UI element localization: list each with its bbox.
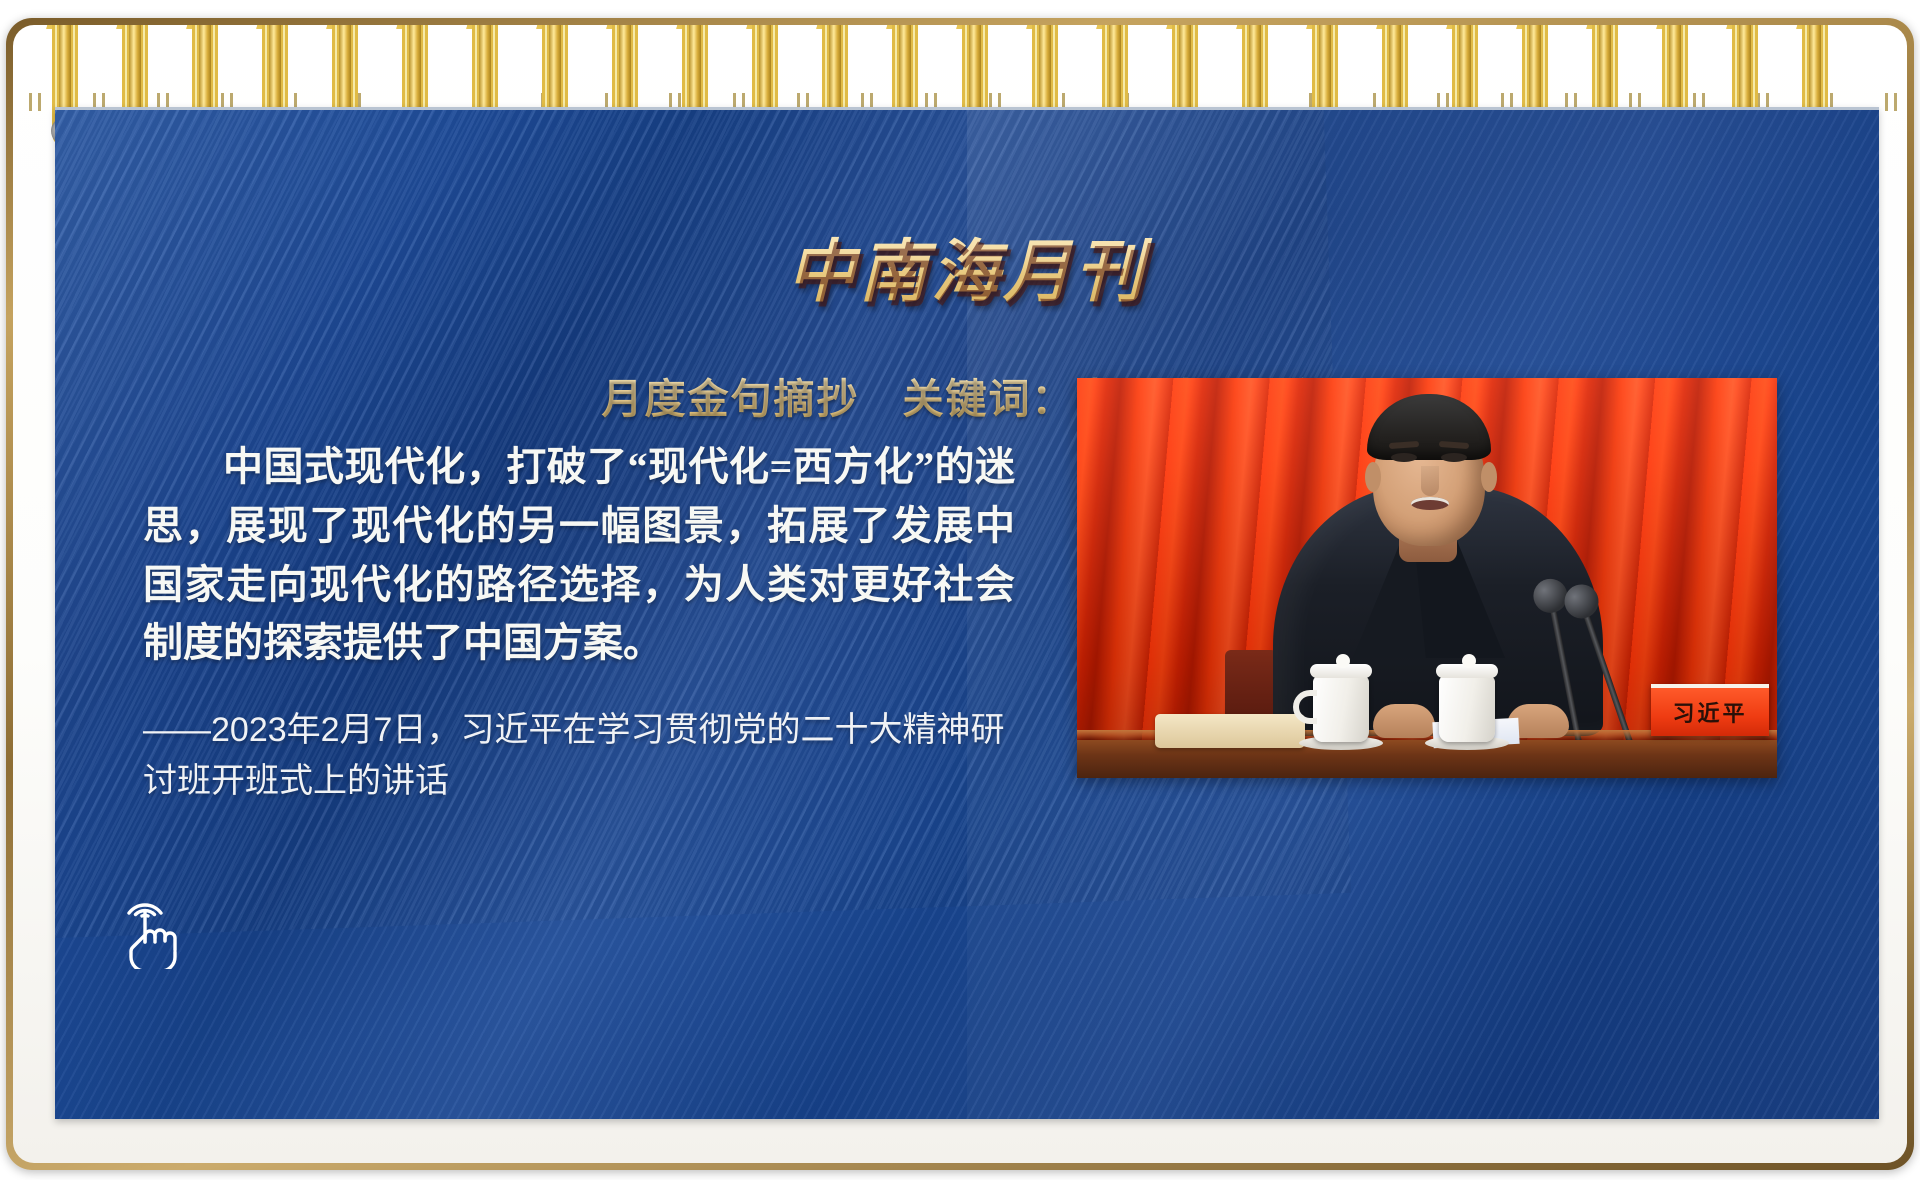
- speaker-eye-left: [1391, 453, 1417, 462]
- spiral-ring-wire: [1306, 25, 1344, 29]
- wall-calendar-frame: 中南海月刊 月度金句摘抄 关键词：中国式现代化 中国式现代化，打破了“现代化=西…: [6, 18, 1914, 1170]
- spiral-ring-wire: [1796, 25, 1834, 29]
- spiral-ring-wire: [676, 25, 714, 29]
- spiral-ring-wire: [956, 25, 994, 29]
- quote-source-attribution: ——2023年2月7日，习近平在学习贯彻党的二十大精神研讨班开班式上的讲话: [143, 705, 1015, 806]
- speaker-nose: [1421, 466, 1439, 496]
- spiral-ring-wire: [816, 25, 854, 29]
- name-placard-label: 习近平: [1672, 696, 1747, 728]
- speech-photograph: 习近平: [1077, 378, 1777, 778]
- tea-mug-left: [1313, 676, 1369, 742]
- spiral-ring-wire: [1516, 25, 1554, 29]
- spiral-ring-wire: [1236, 25, 1274, 29]
- spiral-ring-wire: [256, 25, 294, 29]
- spiral-ring-wire: [1726, 25, 1764, 29]
- spiral-ring-wire: [1446, 25, 1484, 29]
- calendar-page: 中南海月刊 月度金句摘抄 关键词：中国式现代化 中国式现代化，打破了“现代化=西…: [13, 25, 1907, 1163]
- spiral-ring-wire: [466, 25, 504, 29]
- speaker-mouth: [1411, 497, 1449, 510]
- speaker-ear-left: [1365, 462, 1381, 492]
- tap-hand-icon[interactable]: [113, 883, 191, 969]
- speaker-eye-right: [1441, 453, 1467, 462]
- spiral-ring-wire: [1656, 25, 1694, 29]
- spiral-ring-wire: [746, 25, 784, 29]
- speaker-hand-left: [1373, 704, 1435, 738]
- tea-mug-right: [1439, 676, 1495, 742]
- presentation-slide: 中南海月刊 月度金句摘抄 关键词：中国式现代化 中国式现代化，打破了“现代化=西…: [55, 107, 1879, 1119]
- name-placard: 习近平: [1651, 684, 1769, 736]
- spiral-ring-wire: [396, 25, 434, 29]
- spiral-ring-wire: [1096, 25, 1134, 29]
- spiral-ring-wire: [1166, 25, 1204, 29]
- spiral-ring-wire: [1586, 25, 1624, 29]
- page-bottom-margin: [13, 1107, 1907, 1163]
- spiral-ring-wire: [1376, 25, 1414, 29]
- spiral-ring-wire: [186, 25, 224, 29]
- spiral-ring-wire: [536, 25, 574, 29]
- speaker-ear-right: [1481, 462, 1497, 492]
- spiral-ring-wire: [326, 25, 364, 29]
- spiral-ring-wire: [116, 25, 154, 29]
- spiral-ring-wire: [886, 25, 924, 29]
- spiral-ring-wire: [1026, 25, 1064, 29]
- quote-text: 中国式现代化，打破了“现代化=西方化”的迷思，展现了现代化的另一幅图景，拓展了发…: [143, 438, 1015, 673]
- spiral-ring-wire: [606, 25, 644, 29]
- paper-tray: [1155, 714, 1305, 748]
- quote-block: 中国式现代化，打破了“现代化=西方化”的迷思，展现了现代化的另一幅图景，拓展了发…: [143, 438, 1015, 806]
- spiral-ring-wire: [46, 25, 84, 29]
- publication-title: 中南海月刊: [55, 216, 1879, 315]
